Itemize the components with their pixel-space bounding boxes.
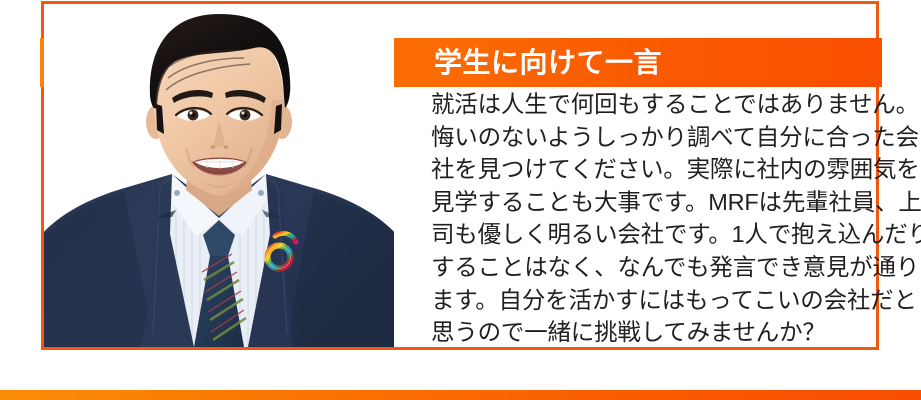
message-line: 社を見つけてください。実際に社内の雰囲気を bbox=[431, 153, 871, 186]
message-line: することはなく、なんでも発言でき意見が通り bbox=[431, 251, 871, 284]
portrait-photo bbox=[44, 4, 394, 347]
heading-banner-title: 学生に向けて一言 bbox=[434, 49, 662, 77]
bottom-accent-bar bbox=[0, 390, 921, 400]
message-line: 悔いのないようしっかり調べて自分に合った会 bbox=[431, 121, 871, 154]
message-line: 司も優しく明るい会社です。1人で抱え込んだり bbox=[431, 218, 871, 251]
portrait-illustration bbox=[44, 4, 394, 347]
message-line: ます。自分を活かすにはもってこいの会社だと bbox=[431, 284, 871, 317]
message-line: 思うので一緒に挑戦してみませんか？ bbox=[431, 316, 871, 349]
message-line: 見学することも大事です。MRFは先輩社員、上 bbox=[431, 186, 871, 219]
message-line: 就活は人生で何回もすることではありません。 bbox=[431, 88, 871, 121]
message-body: 就活は人生で何回もすることではありません。 悔いのないようしっかり調べて自分に合… bbox=[431, 88, 871, 349]
